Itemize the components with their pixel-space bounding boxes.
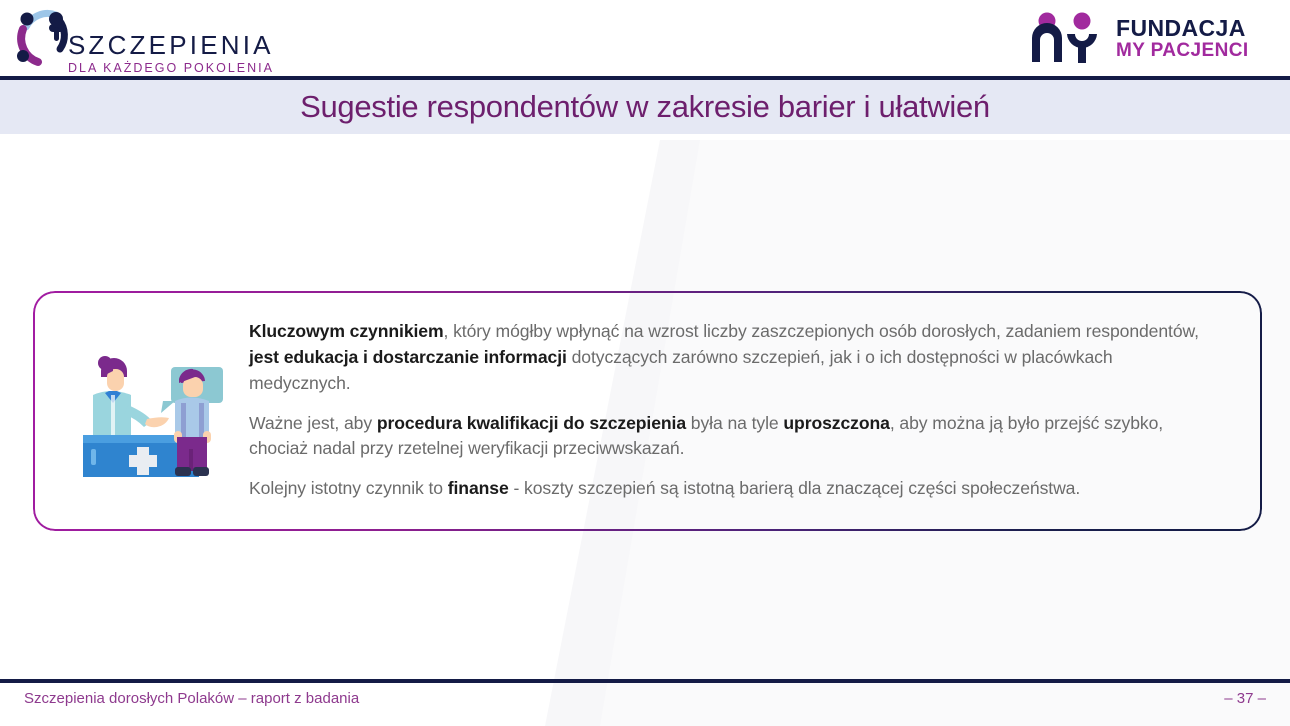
fundacja-my-pacjenci-logo: FUNDACJA MY PACJENCI bbox=[1030, 12, 1260, 68]
emphasis-run: uproszczona bbox=[783, 413, 889, 433]
page-number: – 37 – bbox=[1224, 690, 1266, 707]
emphasis-run: finanse bbox=[448, 478, 509, 498]
text-run: , który mógłby wpłynąć na wzrost liczby … bbox=[444, 321, 1199, 341]
text-run: Kolejny istotny czynnik to bbox=[249, 478, 448, 498]
szczepienia-wordmark-tagline: DLA KAŻDEGO POKOLENIA bbox=[68, 62, 274, 75]
page-title: Sugestie respondentów w zakresie barier … bbox=[300, 89, 990, 125]
emphasis-run: procedura kwalifikacji do szczepienia bbox=[377, 413, 686, 433]
szczepienia-logo: SZCZEPIENIA DLA KAŻDEGO POKOLENIA bbox=[12, 5, 272, 73]
text-run: Ważne jest, aby bbox=[249, 413, 377, 433]
fundacja-wordmark: FUNDACJA MY PACJENCI bbox=[1116, 16, 1249, 62]
szczepienia-wordmark-main: SZCZEPIENIA bbox=[68, 32, 274, 58]
emphasis-run: Kluczowym czynnikiem bbox=[249, 321, 444, 341]
content-card: Kluczowym czynnikiem, który mógłby wpłyn… bbox=[33, 291, 1258, 527]
text-run: była na tyle bbox=[686, 413, 783, 433]
slide-title-band: Sugestie respondentów w zakresie barier … bbox=[0, 80, 1290, 134]
paragraph-2: Ważne jest, aby procedura kwalifikacji d… bbox=[249, 411, 1218, 463]
fundacja-line-2: MY PACJENCI bbox=[1116, 41, 1249, 62]
card-text-block: Kluczowym czynnikiem, który mógłby wpłyn… bbox=[249, 319, 1218, 502]
text-run: - koszty szczepień są istotną barierą dl… bbox=[509, 478, 1081, 498]
my-people-monogram-icon bbox=[1030, 12, 1108, 64]
paragraph-3: Kolejny istotny czynnik to finanse - kos… bbox=[249, 476, 1218, 502]
clinic-reception-illustration bbox=[71, 339, 231, 479]
slide-header: SZCZEPIENIA DLA KAŻDEGO POKOLENIA FUNDAC… bbox=[0, 0, 1290, 78]
fundacja-line-1: FUNDACJA bbox=[1116, 16, 1249, 41]
paragraph-1: Kluczowym czynnikiem, który mógłby wpłyn… bbox=[249, 319, 1218, 397]
header-divider bbox=[0, 76, 1290, 80]
szczepienia-wordmark: SZCZEPIENIA DLA KAŻDEGO POKOLENIA bbox=[68, 32, 274, 75]
footer-report-label: Szczepienia dorosłych Polaków – raport z… bbox=[24, 690, 359, 707]
footer-divider bbox=[0, 679, 1290, 683]
emphasis-run: jest edukacja i dostarczanie informacji bbox=[249, 347, 567, 367]
